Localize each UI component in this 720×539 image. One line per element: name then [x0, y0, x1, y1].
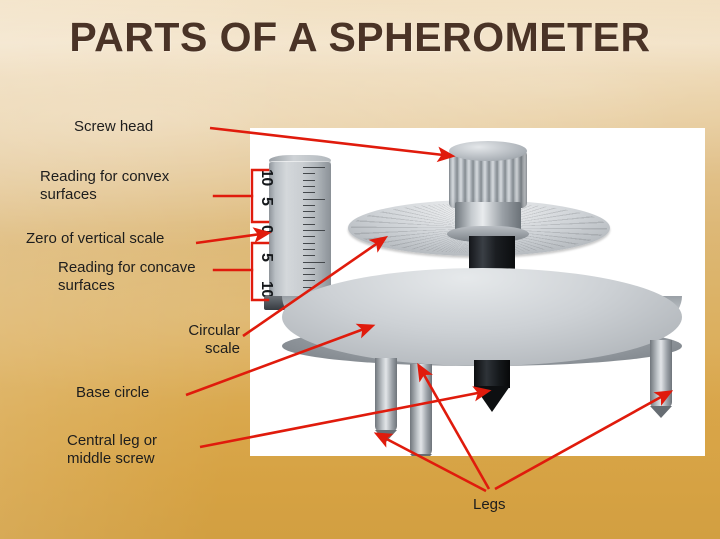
label-screw-head: Screw head	[74, 118, 153, 136]
vertical-scale-reading: 10	[257, 169, 275, 186]
leg-left-tip	[375, 430, 397, 442]
vertical-scale-ticks	[303, 167, 327, 295]
label-reading-concave: Reading for concave surfaces	[58, 259, 196, 295]
base-circle-plate	[282, 268, 682, 366]
screw-head-top	[449, 141, 527, 161]
label-central-leg: Central leg or middle screw	[67, 432, 157, 468]
vertical-scale-bar: 1050510	[269, 161, 331, 301]
label-circular-scale: Circular scale	[150, 322, 240, 358]
leg-left	[375, 358, 397, 432]
leg-right	[650, 340, 672, 408]
vertical-scale-reading: 0	[257, 225, 275, 233]
label-reading-convex: Reading for convex surfaces	[40, 168, 169, 204]
leg-right-tip	[650, 406, 672, 418]
central-leg-tip	[474, 386, 510, 412]
slide-canvas: PARTS OF A SPHEROMETER 1050510	[0, 0, 720, 539]
central-pointed-leg	[474, 360, 510, 388]
vertical-scale-reading: 5	[257, 253, 275, 261]
vertical-scale-reading: 5	[257, 197, 275, 205]
label-base-circle: Base circle	[76, 384, 149, 402]
leg-front	[410, 364, 432, 456]
label-zero-vertical-scale: Zero of vertical scale	[26, 230, 164, 248]
leg-front-tip	[410, 454, 432, 456]
label-legs: Legs	[473, 496, 506, 514]
page-title: PARTS OF A SPHEROMETER	[0, 14, 720, 61]
spherometer-photo: 1050510	[250, 128, 705, 456]
